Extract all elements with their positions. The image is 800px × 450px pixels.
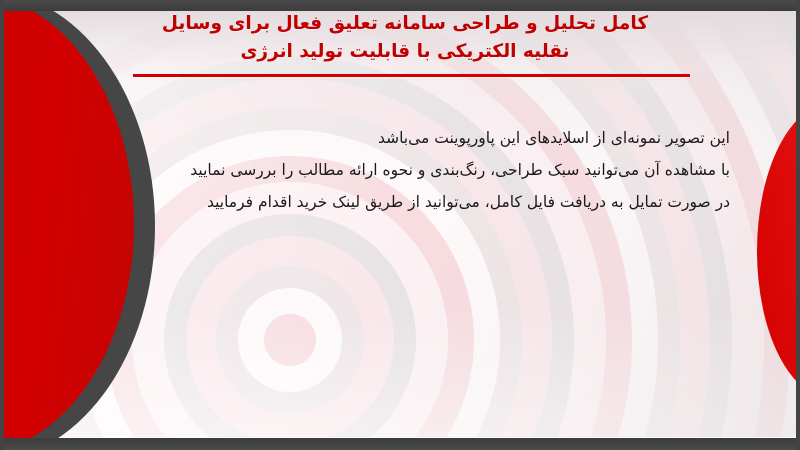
title-line-2: نقلیه الکتریکی با قابلیت تولید انرژی <box>110 38 700 66</box>
frame-bar-right <box>796 0 800 450</box>
frame-bar-top <box>0 0 800 11</box>
slide-canvas: کامل تحلیل و طراحی سامانه تعلیق فعال برا… <box>0 0 800 450</box>
frame-bar-left <box>0 0 4 450</box>
title-line-1: کامل تحلیل و طراحی سامانه تعلیق فعال برا… <box>110 10 700 38</box>
body-line-2: با مشاهده آن می‌توانید سبک طراحی، رنگ‌بن… <box>90 154 730 186</box>
body-line-3: در صورت تمایل به دریافت فایل کامل، می‌تو… <box>90 186 730 218</box>
title-divider-rule <box>133 74 690 77</box>
slide-content: کامل تحلیل و طراحی سامانه تعلیق فعال برا… <box>0 10 800 440</box>
slide-body-text: این تصویر نمونه‌ای از اسلایدهای این پاور… <box>90 122 730 218</box>
slide-title: کامل تحلیل و طراحی سامانه تعلیق فعال برا… <box>110 10 700 66</box>
body-line-1: این تصویر نمونه‌ای از اسلایدهای این پاور… <box>90 122 730 154</box>
frame-bar-bottom <box>0 438 800 450</box>
